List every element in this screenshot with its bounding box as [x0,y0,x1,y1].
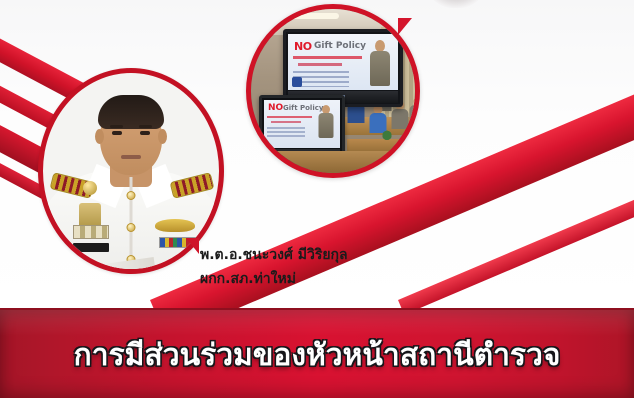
photo-monitor-slide: NO Gift Policy [264,100,340,148]
uniform-aiguillette-badge [83,181,97,195]
title-banner: การมีส่วนร่วมของหัวหน้าสถานีตำรวจ [0,308,634,403]
photo-wall-screen-slide: NO Gift Policy [288,34,398,90]
officer-position: ผกก.สภ.ท่าใหม่ [200,267,480,291]
portrait-eyebrow-left [110,125,123,128]
slide-officer-figure [369,40,391,86]
slide-subtitle-line-2 [298,63,342,66]
monitor-subtitle-line-1 [267,116,312,118]
officer-rank-and-name: พ.ต.อ.ชนะวงศ์ มีวิริยกุล [200,243,480,267]
portrait-ear-left [95,129,104,144]
monitor-officer-figure [318,105,334,138]
portrait-eye-left [112,131,122,135]
no-gift-policy-gift-text: Gift Policy [314,42,366,51]
portrait-eyebrow-right [139,125,152,128]
uniform-button-2 [127,223,136,232]
meeting-photo-circle: NO Gift Policy NO Gift Policy [246,4,420,178]
photo-plant [379,127,395,141]
monitor-subtitle-line-2 [271,121,301,123]
monitor-body-text-block [267,127,305,139]
banner-title-text: การมีส่วนร่วมของหัวหน้าสถานีตำรวจ [74,332,561,379]
no-gift-policy-no-text: NO [294,41,312,52]
portrait-hair [98,95,164,129]
slide-agency-logo [292,77,302,87]
uniform-name-tag [73,243,109,252]
slide-canvas: NO Gift Policy NO Gift Policy [0,0,634,418]
bottom-white-strip [0,398,634,418]
photo-table-front [251,151,415,173]
slide-subtitle-line-1 [293,56,362,59]
red-wedge-name-icon [186,238,199,254]
photo-ceiling-lamp [279,13,339,19]
uniform-medal-bar [73,225,109,239]
uniform-button-1 [127,191,136,200]
portrait-eye-right [140,131,150,135]
portrait-ear-right [158,129,167,144]
uniform-wings-insignia [155,219,195,232]
officer-name-block: พ.ต.อ.ชนะวงศ์ มีวิริยกุล ผกก.สภ.ท่าใหม่ [200,243,480,291]
monitor-no-text: NO [268,104,283,113]
portrait-mouth [121,155,141,159]
